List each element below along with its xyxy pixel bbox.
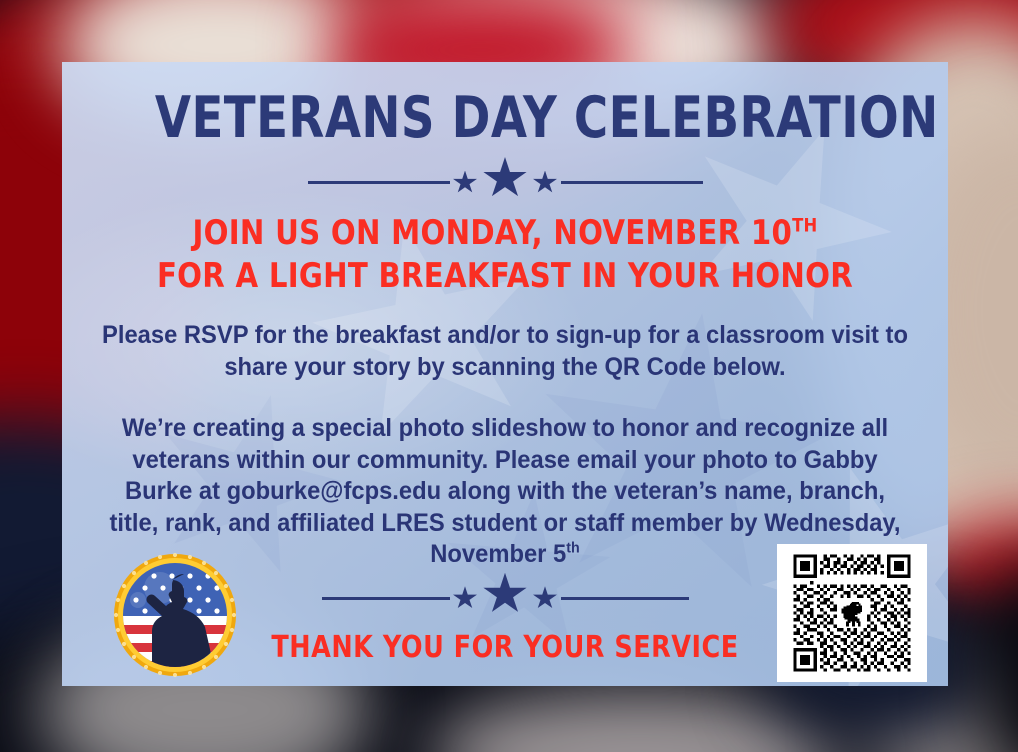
- ordinal-suffix: TH: [792, 215, 817, 237]
- star-icon: [483, 157, 528, 200]
- divider-rule-left: [322, 597, 450, 600]
- divider-rule-right: [561, 597, 689, 600]
- ordinal-suffix: th: [566, 540, 579, 557]
- event-headline-line-2: FOR A LIGHT BREAKFAST IN YOUR HONOR: [138, 257, 872, 296]
- divider-rule-right: [561, 181, 703, 184]
- star-icon: [483, 573, 528, 616]
- event-headline-text: JOIN US ON MONDAY, NOVEMBER 10: [193, 213, 793, 253]
- star-icon: [533, 171, 558, 195]
- star-icon: [533, 586, 558, 610]
- star-icon: [453, 171, 478, 195]
- closing-message: THANK YOU FOR YOUR SERVICE: [142, 630, 868, 665]
- flyer-card: VETERANS DAY CELEBRATION JOIN US ON MOND…: [62, 62, 948, 686]
- rsvp-qr-code[interactable]: [777, 544, 927, 682]
- divider-rule-left: [308, 181, 450, 184]
- saluting-soldier-flag-badge: [110, 550, 240, 680]
- poster-stage: VETERANS DAY CELEBRATION JOIN US ON MOND…: [0, 0, 1018, 752]
- event-headline-line-1: JOIN US ON MONDAY, NOVEMBER 10TH: [138, 214, 872, 253]
- page-title: VETERANS DAY CELEBRATION: [155, 90, 855, 147]
- rsvp-paragraph: Please RSVP for the breakfast and/or to …: [99, 320, 910, 383]
- star-divider: [78, 161, 932, 204]
- star-icon: [453, 586, 478, 610]
